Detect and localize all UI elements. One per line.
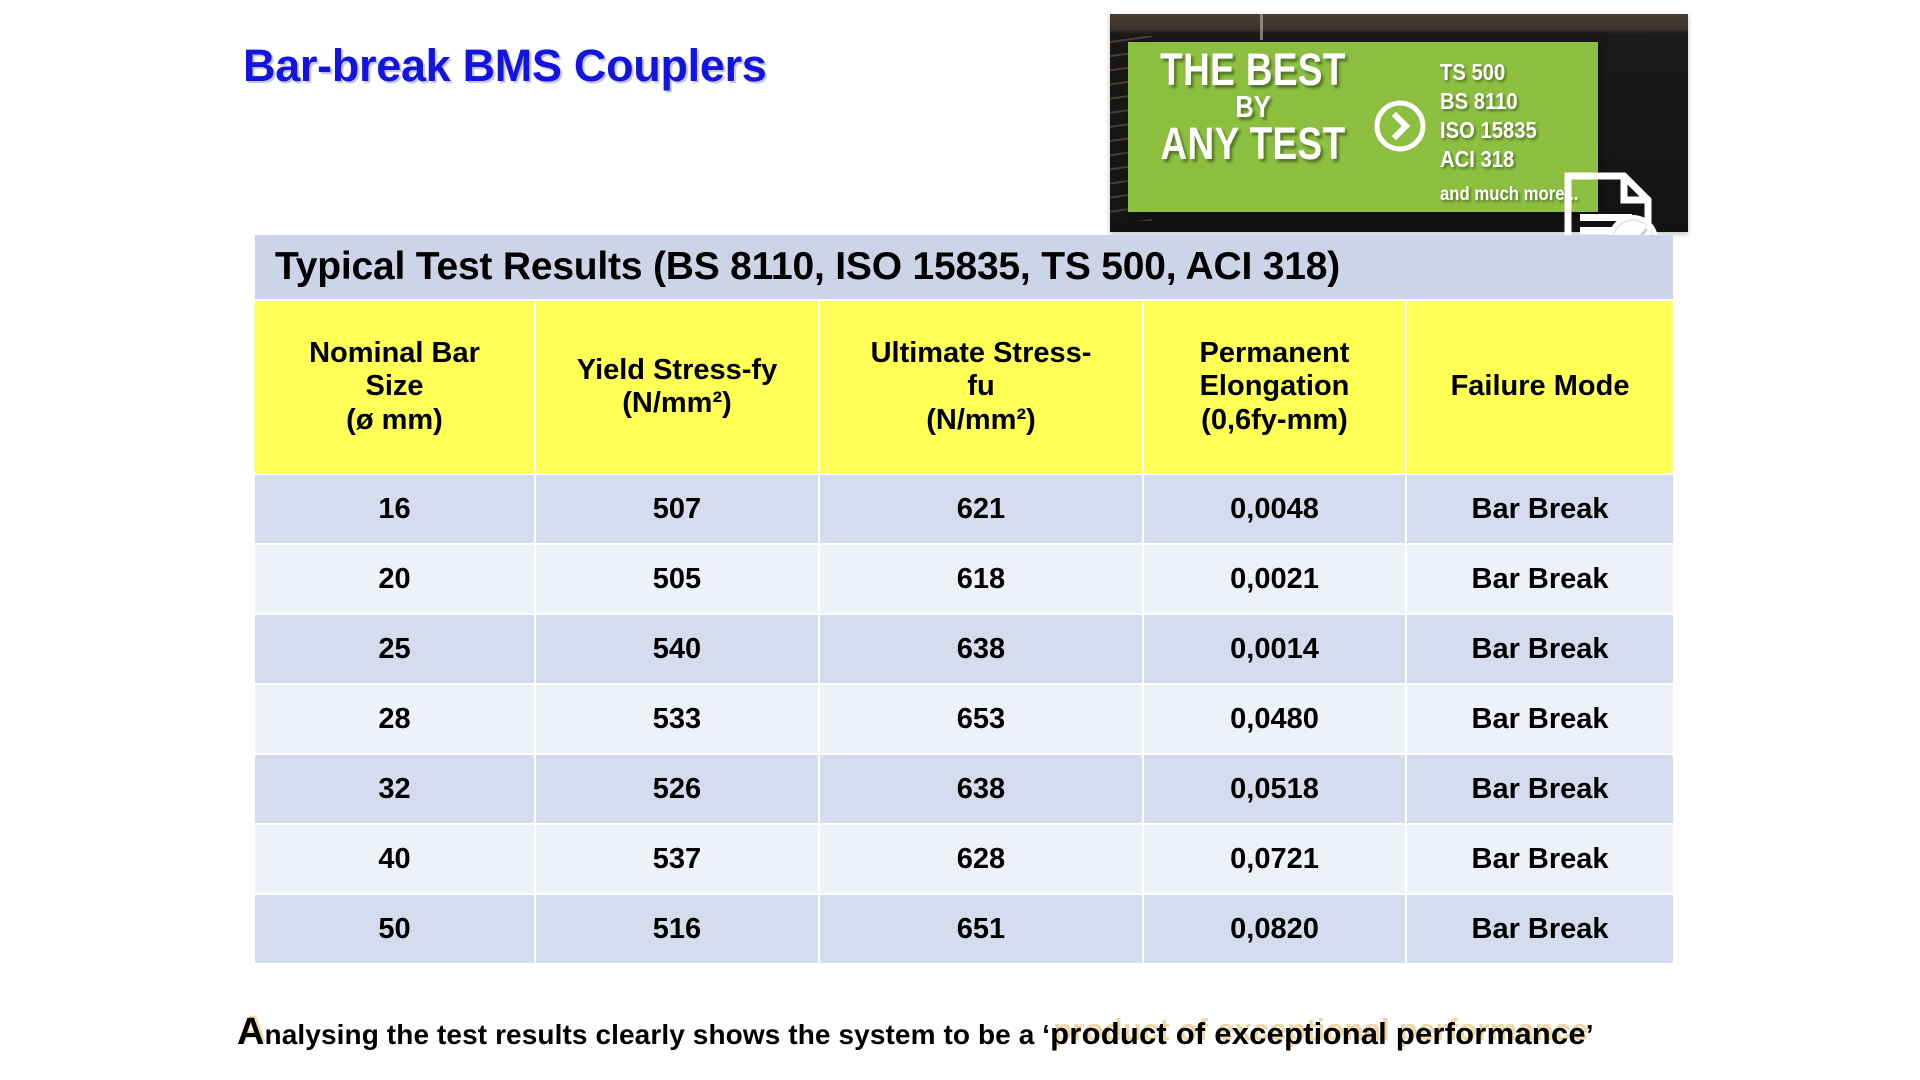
cell-elongation: 0,0021: [1144, 545, 1405, 613]
cell-elongation: 0,0048: [1144, 475, 1405, 543]
table-header-row: Nominal Bar Size (ø mm) Yield Stress-fy …: [255, 301, 1673, 473]
header-line: (N/mm²): [820, 404, 1142, 437]
cell-size: 40: [255, 825, 534, 893]
column-header-yield-stress: Yield Stress-fy (N/mm²): [536, 301, 818, 473]
cell-elongation: 0,0721: [1144, 825, 1405, 893]
header-line: (ø mm): [255, 404, 534, 437]
header-line: (N/mm²): [536, 387, 818, 420]
header-line: Yield Stress-fy: [536, 354, 818, 387]
table-row: 50 516 651 0,0820 Bar Break: [255, 895, 1673, 963]
cell-size: 32: [255, 755, 534, 823]
banner-image: THE BEST BY ANY TEST TS 500 BS 8110 ISO …: [1110, 10, 1690, 235]
banner-standard-item: ACI 318: [1440, 145, 1578, 174]
cell-elongation: 0,0014: [1144, 615, 1405, 683]
column-header-ultimate-stress: Ultimate Stress- fu (N/mm²): [820, 301, 1142, 473]
cell-ultimate: 621: [820, 475, 1142, 543]
banner-standard-item: ISO 15835: [1440, 116, 1578, 145]
cell-elongation: 0,0820: [1144, 895, 1405, 963]
cell-ultimate: 638: [820, 615, 1142, 683]
table-title: Typical Test Results (BS 8110, ISO 15835…: [255, 235, 1673, 299]
cell-yield: 507: [536, 475, 818, 543]
footer-dropcap: A: [237, 1011, 265, 1053]
cell-failure: Bar Break: [1407, 685, 1673, 753]
circle-chevron-right-icon: [1373, 99, 1427, 153]
banner-standard-item: TS 500: [1440, 58, 1578, 87]
table-row: 16 507 621 0,0048 Bar Break: [255, 475, 1673, 543]
cell-failure: Bar Break: [1407, 475, 1673, 543]
column-header-nominal-bar-size: Nominal Bar Size (ø mm): [255, 301, 534, 473]
cell-elongation: 0,0518: [1144, 755, 1405, 823]
cell-elongation: 0,0480: [1144, 685, 1405, 753]
table-title-row: Typical Test Results (BS 8110, ISO 15835…: [255, 235, 1673, 299]
column-header-failure-mode: Failure Mode: [1407, 301, 1673, 473]
column-header-permanent-elongation: Permanent Elongation (0,6fy-mm): [1144, 301, 1405, 473]
table-row: 28 533 653 0,0480 Bar Break: [255, 685, 1673, 753]
banner-standard-item: BS 8110: [1440, 87, 1578, 116]
test-results-table: Typical Test Results (BS 8110, ISO 15835…: [253, 233, 1665, 965]
cell-yield: 505: [536, 545, 818, 613]
banner-standards-list: TS 500 BS 8110 ISO 15835 ACI 318 and muc…: [1440, 58, 1578, 207]
cell-failure: Bar Break: [1407, 615, 1673, 683]
cell-size: 28: [255, 685, 534, 753]
cell-ultimate: 651: [820, 895, 1142, 963]
footer-caption: Analysing the test results clearly shows…: [237, 1016, 1594, 1052]
cell-size: 25: [255, 615, 534, 683]
banner-headline-line3: ANY TEST: [1159, 122, 1348, 166]
table-row: 32 526 638 0,0518 Bar Break: [255, 755, 1673, 823]
footer-quote-close: ’: [1586, 1019, 1594, 1050]
cell-size: 20: [255, 545, 534, 613]
cell-yield: 537: [536, 825, 818, 893]
header-line: fu: [820, 370, 1142, 403]
cell-ultimate: 628: [820, 825, 1142, 893]
cell-size: 50: [255, 895, 534, 963]
cell-ultimate: 618: [820, 545, 1142, 613]
table-row: 20 505 618 0,0021 Bar Break: [255, 545, 1673, 613]
cell-failure: Bar Break: [1407, 545, 1673, 613]
page-title: Bar-break BMS Couplers: [243, 40, 767, 92]
header-line: Size: [255, 370, 534, 403]
cell-yield: 526: [536, 755, 818, 823]
cell-failure: Bar Break: [1407, 825, 1673, 893]
banner-headline: THE BEST BY ANY TEST: [1159, 48, 1348, 167]
cell-yield: 533: [536, 685, 818, 753]
cell-yield: 540: [536, 615, 818, 683]
header-line: Permanent: [1144, 337, 1405, 370]
banner-green-panel: THE BEST BY ANY TEST TS 500 BS 8110 ISO …: [1128, 42, 1598, 212]
table-row: 25 540 638 0,0014 Bar Break: [255, 615, 1673, 683]
cell-yield: 516: [536, 895, 818, 963]
footer-highlight-text: product of exceptional performance: [1050, 1016, 1586, 1051]
header-line: Nominal Bar: [255, 337, 534, 370]
footer-quote-open: ‘: [1042, 1019, 1050, 1050]
cell-ultimate: 638: [820, 755, 1142, 823]
cell-failure: Bar Break: [1407, 755, 1673, 823]
header-line: Elongation: [1144, 370, 1405, 403]
header-line: Ultimate Stress-: [820, 337, 1142, 370]
banner-headline-line1: THE BEST: [1159, 48, 1348, 92]
footer-lead-text: nalysing the test results clearly shows …: [265, 1019, 1043, 1050]
cell-failure: Bar Break: [1407, 895, 1673, 963]
header-line: Failure Mode: [1407, 370, 1673, 403]
banner-more-text: and much more...: [1440, 183, 1578, 207]
cell-ultimate: 653: [820, 685, 1142, 753]
table-row: 40 537 628 0,0721 Bar Break: [255, 825, 1673, 893]
header-line: (0,6fy-mm): [1144, 404, 1405, 437]
cell-size: 16: [255, 475, 534, 543]
